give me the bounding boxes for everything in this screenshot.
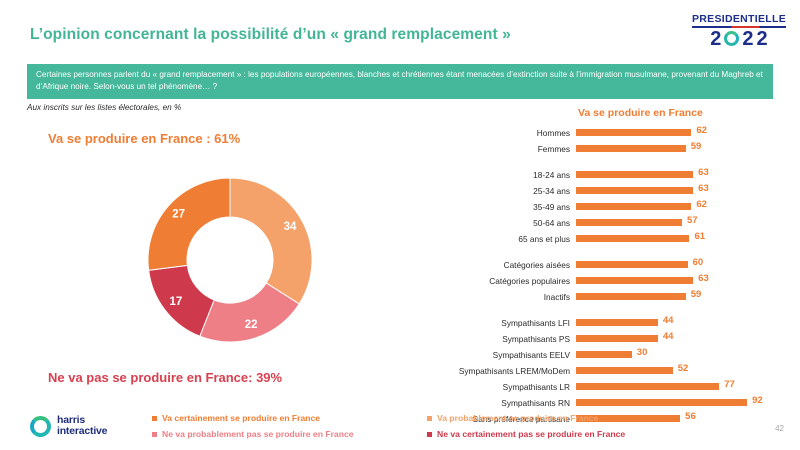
- bar-value: 62: [696, 125, 707, 136]
- bar-value: 59: [691, 141, 702, 152]
- bar-row: Sympathisants RN92: [430, 396, 790, 409]
- bar-row: Hommes62: [430, 126, 790, 139]
- bar-track: 44: [576, 316, 790, 329]
- harris-line-2: interactive: [57, 425, 107, 437]
- bar-value: 77: [724, 379, 735, 390]
- bar-label: Hommes: [430, 128, 576, 138]
- bar-fill: [576, 351, 632, 358]
- legend-label: Va certainement se produire en France: [162, 413, 320, 423]
- bar-value: 63: [698, 183, 709, 194]
- bar-fill: [576, 277, 693, 284]
- logo-underline: [692, 26, 786, 28]
- legend-swatch: [152, 432, 157, 437]
- bar-value: 44: [663, 331, 674, 342]
- logo-digit-4: 2: [757, 29, 768, 49]
- legend-label: Va probablement se produire en France: [437, 413, 598, 423]
- base-note: Aux inscrits sur les listes électorales,…: [27, 103, 181, 112]
- legend-swatch: [152, 416, 157, 421]
- bar-row: 65 ans et plus61: [430, 232, 790, 245]
- donut-positive-total: Va se produire en France : 61%: [48, 131, 240, 146]
- bar-track: 30: [576, 348, 790, 361]
- bar-fill: [576, 171, 693, 178]
- bar-label: 25-34 ans: [430, 186, 576, 196]
- bar-track: 61: [576, 232, 790, 245]
- logo-digit-3: 2: [742, 29, 753, 49]
- bar-fill: [576, 219, 682, 226]
- bar-track: 63: [576, 184, 790, 197]
- bar-value: 92: [752, 395, 763, 406]
- legend-swatch: [427, 416, 432, 421]
- donut-negative-total: Ne va pas se produire en France: 39%: [48, 370, 282, 385]
- bar-row: 25-34 ans63: [430, 184, 790, 197]
- bar-label: 65 ans et plus: [430, 234, 576, 244]
- bar-track: 60: [576, 258, 790, 271]
- bar-track: 44: [576, 332, 790, 345]
- legend-swatch: [427, 432, 432, 437]
- bar-value: 59: [691, 289, 702, 300]
- bar-track: 62: [576, 126, 790, 139]
- donut-slice-value: 17: [169, 296, 182, 308]
- bar-row: Sympathisants LR77: [430, 380, 790, 393]
- bar-track: 62: [576, 200, 790, 213]
- logo-year: 2 2 2: [692, 29, 786, 49]
- bar-row: Sympathisants LFI44: [430, 316, 790, 329]
- bar-row: Sympathisants EELV30: [430, 348, 790, 361]
- legend-item: Va probablement se produire en France: [427, 410, 692, 426]
- bar-row: 35-49 ans62: [430, 200, 790, 213]
- bar-fill: [576, 203, 691, 210]
- bar-fill: [576, 235, 689, 242]
- bar-fill: [576, 261, 688, 268]
- logo-digit-1: 2: [710, 29, 721, 49]
- bar-row: 18-24 ans63: [430, 168, 790, 181]
- bar-track: 63: [576, 168, 790, 181]
- bar-label: 50-64 ans: [430, 218, 576, 228]
- donut-slice-value: 34: [284, 221, 297, 233]
- bar-fill: [576, 367, 673, 374]
- bar-value: 52: [678, 363, 689, 374]
- page-number: 42: [775, 424, 784, 433]
- donut-slice: [230, 178, 312, 304]
- bar-value: 60: [693, 257, 704, 268]
- bar-fill: [576, 187, 693, 194]
- bar-track: 77: [576, 380, 790, 393]
- legend-item: Ne va certainement pas se produire en Fr…: [427, 426, 692, 442]
- legend-item: Va certainement se produire en France: [152, 410, 427, 426]
- donut-slice-value: 22: [245, 319, 258, 331]
- bar-fill: [576, 383, 719, 390]
- bar-value: 57: [687, 215, 698, 226]
- bar-label: Sympathisants LFI: [430, 318, 576, 328]
- bar-track: 59: [576, 142, 790, 155]
- bar-value: 63: [698, 273, 709, 284]
- bars-chart-title: Va se produire en France: [578, 107, 703, 119]
- bar-row: Inactifs59: [430, 290, 790, 303]
- bars-chart: Hommes62Femmes5918-24 ans6325-34 ans6335…: [430, 126, 790, 428]
- bar-label: Femmes: [430, 144, 576, 154]
- bar-fill: [576, 145, 686, 152]
- bar-value: 62: [696, 199, 707, 210]
- bar-track: 52: [576, 364, 790, 377]
- bar-value: 30: [637, 347, 648, 358]
- bar-label: Sympathisants LREM/MoDem: [430, 366, 576, 376]
- bar-fill: [576, 335, 658, 342]
- bar-row: Sympathisants PS44: [430, 332, 790, 345]
- bar-label: Sympathisants PS: [430, 334, 576, 344]
- harris-interactive-logo: harris interactive: [30, 415, 107, 437]
- bar-fill: [576, 319, 658, 326]
- bar-value: 44: [663, 315, 674, 326]
- bar-label: Sympathisants RN: [430, 398, 576, 408]
- bar-row: Catégories aisées60: [430, 258, 790, 271]
- logo-word: PRESIDENTIELLE: [692, 14, 786, 25]
- bar-row: Sympathisants LREM/MoDem52: [430, 364, 790, 377]
- bar-row: Catégories populaires63: [430, 274, 790, 287]
- bar-track: 57: [576, 216, 790, 229]
- bar-track: 59: [576, 290, 790, 303]
- legend-label: Ne va certainement pas se produire en Fr…: [437, 429, 625, 439]
- bar-label: 35-49 ans: [430, 202, 576, 212]
- bar-label: 18-24 ans: [430, 170, 576, 180]
- bar-value: 61: [694, 231, 705, 242]
- bar-fill: [576, 399, 747, 406]
- bar-label: Inactifs: [430, 292, 576, 302]
- bar-row: Femmes59: [430, 142, 790, 155]
- page-title: L’opinion concernant la possibilité d’un…: [30, 26, 511, 44]
- slide: L’opinion concernant la possibilité d’un…: [0, 0, 800, 450]
- donut-slice-value: 27: [172, 209, 185, 221]
- logo-ring-icon: [724, 31, 739, 46]
- bar-fill: [576, 129, 691, 136]
- presidentielle-2022-logo: PRESIDENTIELLE 2 2 2: [692, 14, 786, 49]
- bar-label: Sympathisants EELV: [430, 350, 576, 360]
- bar-label: Catégories aisées: [430, 260, 576, 270]
- donut-chart: 34221727: [145, 175, 315, 345]
- donut-slice: [148, 178, 230, 270]
- harris-ring-icon: [30, 416, 51, 437]
- bar-row: 50-64 ans57: [430, 216, 790, 229]
- bar-track: 63: [576, 274, 790, 287]
- bar-label: Catégories populaires: [430, 276, 576, 286]
- question-banner: Certaines personnes parlent du « grand r…: [27, 64, 773, 99]
- harris-wordmark: harris interactive: [57, 415, 107, 437]
- legend-item: Ne va probablement pas se produire en Fr…: [152, 426, 427, 442]
- chart-legend: Va certainement se produire en FranceVa …: [152, 410, 692, 442]
- bar-track: 92: [576, 396, 790, 409]
- donut-svg: 34221727: [145, 175, 315, 345]
- bar-fill: [576, 293, 686, 300]
- bar-label: Sympathisants LR: [430, 382, 576, 392]
- bar-value: 63: [698, 167, 709, 178]
- legend-label: Ne va probablement pas se produire en Fr…: [162, 429, 354, 439]
